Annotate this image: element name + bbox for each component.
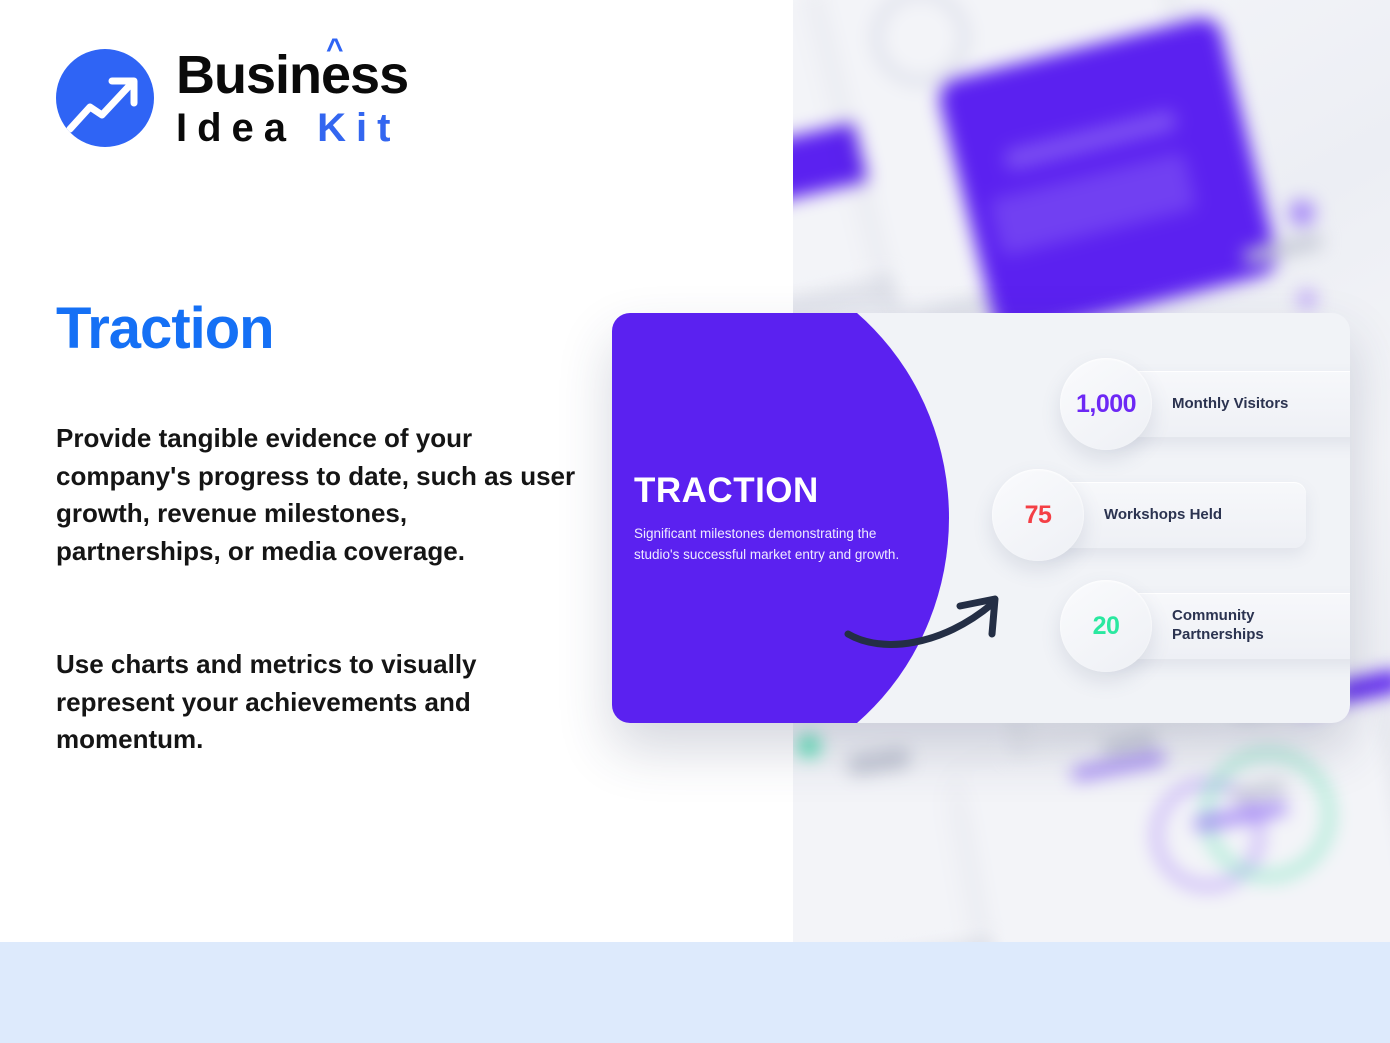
bottom-accent-bar [0, 942, 1390, 1043]
brand-name-line1: Business ^ [176, 48, 408, 102]
metric-label: Workshops Held [1104, 506, 1222, 525]
bg-dot-1 [1289, 200, 1315, 226]
page-title: Traction [56, 295, 274, 362]
brand-wordmark: Business ^ Idea Kit [176, 48, 408, 148]
traction-card-subtitle: Significant milestones demonstrating the… [634, 524, 914, 566]
traction-card-title: TRACTION [634, 471, 914, 511]
description-paragraph-1: Provide tangible evidence of your compan… [56, 420, 576, 571]
brand-name-idea: Idea [176, 106, 296, 150]
bg-dot-3 [798, 735, 820, 757]
brand-name-line2: Idea Kit [176, 108, 408, 148]
metric-item-workshops-held[interactable]: Workshops Held 75 [992, 469, 1337, 561]
traction-slide-card: TRACTION Significant milestones demonstr… [612, 313, 1350, 723]
metric-item-community-partnerships[interactable]: Community Partnerships 20 [1060, 580, 1337, 672]
description-paragraph-2: Use charts and metrics to visually repre… [56, 646, 576, 759]
brand-logo: Business ^ Idea Kit [56, 48, 408, 148]
metrics-list: Monthly Visitors 1,000 Workshops Held 75… [992, 358, 1337, 672]
metric-label: Monthly Visitors [1172, 395, 1288, 414]
metric-label: Community Partnerships [1172, 607, 1312, 645]
brand-name-kit: Kit [317, 106, 400, 150]
circumflex-accent-icon: ^ [326, 35, 343, 65]
metric-value: 1,000 [1076, 390, 1136, 419]
traction-card-text-block: TRACTION Significant milestones demonstr… [634, 471, 914, 566]
brand-name-line1-text: Business [176, 45, 408, 105]
metric-value-circle: 1,000 [1060, 358, 1152, 450]
growth-arrow-circle-icon [56, 49, 154, 147]
metric-value: 20 [1093, 612, 1120, 641]
metric-value-circle: 20 [1060, 580, 1152, 672]
metric-item-monthly-visitors[interactable]: Monthly Visitors 1,000 [1060, 358, 1337, 450]
metric-value-circle: 75 [992, 469, 1084, 561]
bg-dot-2 [1298, 290, 1316, 308]
slide-page: Business ^ Idea Kit Traction Provide tan… [0, 0, 1390, 1043]
metric-value: 75 [1025, 501, 1052, 530]
